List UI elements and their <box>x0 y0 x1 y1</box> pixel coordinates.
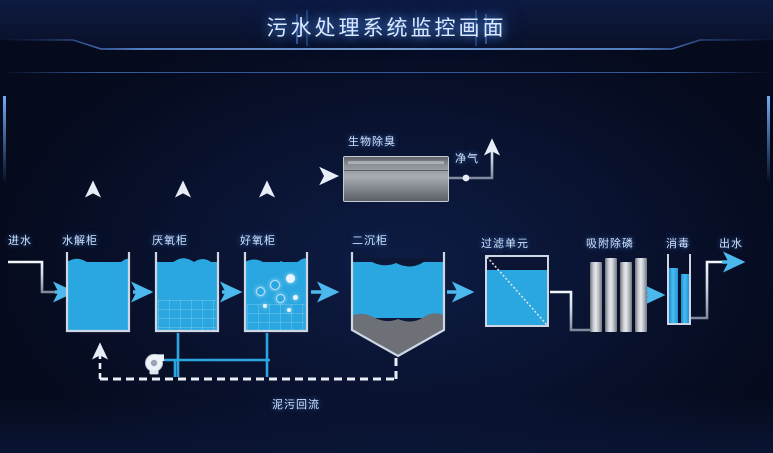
pipe-network <box>0 0 773 453</box>
adsorption-column <box>605 258 617 332</box>
tank-secondary-clarifier <box>348 252 448 364</box>
label-sludge-return: 泥污回流 <box>272 396 320 412</box>
unit-adsorption-phosphorus <box>588 258 650 334</box>
tank-aerobic <box>242 252 310 334</box>
adsorption-column <box>620 262 632 332</box>
bottom-glow <box>0 393 773 453</box>
frame-right-accent <box>767 96 770 182</box>
tank-anaerobic <box>153 252 221 334</box>
pump-icon <box>142 352 168 378</box>
label-hydrolysis-tank: 水解柜 <box>62 232 98 248</box>
label-aerobic-tank: 好氧柜 <box>240 232 276 248</box>
unit-filtration <box>484 254 550 328</box>
deodorizer-seam <box>344 170 448 171</box>
header-bar: 污水处理系统监控画面 <box>0 0 773 58</box>
frame-left-accent <box>3 96 6 182</box>
monitoring-screen: 污水处理系统监控画面 <box>0 0 773 453</box>
disinfection-water-right <box>681 274 689 323</box>
hydrolysis-walls <box>64 252 132 334</box>
label-bio-deodorization: 生物除臭 <box>348 133 396 149</box>
deodorizer-top-strip <box>348 161 444 164</box>
disinfection-water-left <box>669 268 678 323</box>
label-anaerobic-tank: 厌氧柜 <box>152 232 188 248</box>
filtration-body <box>484 254 550 328</box>
header-underline <box>0 72 773 73</box>
page-title: 污水处理系统监控画面 <box>0 12 773 42</box>
aerobic-walls <box>242 252 310 334</box>
label-outlet: 出水 <box>719 235 743 251</box>
adsorption-column <box>590 262 602 332</box>
sludge-return-pump[interactable] <box>142 352 168 378</box>
label-adsorption-phosphorus: 吸附除磷 <box>586 235 634 251</box>
bio-deodorization-unit <box>343 156 449 202</box>
label-secondary-clarifier: 二沉柜 <box>352 232 388 248</box>
unit-disinfection <box>665 254 693 326</box>
clarifier-body <box>348 252 448 364</box>
tank-hydrolysis <box>64 252 132 334</box>
label-clean-gas: 净气 <box>455 150 479 166</box>
adsorption-column <box>635 258 647 332</box>
label-filtration-unit: 过滤单元 <box>481 235 529 251</box>
label-inlet: 进水 <box>8 232 32 248</box>
label-disinfection: 消毒 <box>666 235 690 251</box>
anaerobic-walls <box>153 252 221 334</box>
